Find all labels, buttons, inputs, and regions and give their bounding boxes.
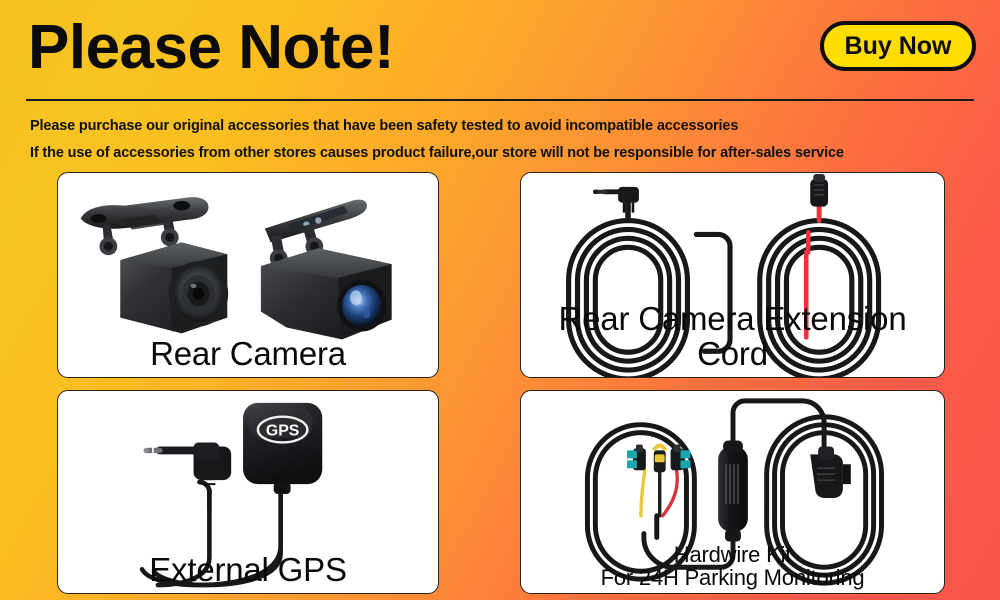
notice-line-1: Please purchase our original accessories… (30, 118, 738, 134)
promo-banner: Please Note! Buy Now Please purchase our… (0, 0, 1000, 600)
card-label-rear-camera-extension-cord: Rear Camera Extension Cord (521, 302, 944, 371)
card-label-rear-camera: Rear Camera (58, 337, 438, 371)
product-card-hardwire-kit[interactable]: Hardwire Kit For 24H Parking Monitoring (520, 390, 945, 594)
title-divider (26, 99, 974, 101)
product-card-rear-camera-extension-cord[interactable]: Rear Camera Extension Cord (520, 172, 945, 378)
buy-now-button[interactable]: Buy Now (820, 21, 976, 71)
gps-badge-text: GPS (266, 423, 299, 440)
header: Please Note! Buy Now (0, 0, 1000, 96)
product-grid: Rear Camera (57, 172, 945, 594)
card-label-hardwire-kit-line-2: For 24H Parking Monitoring (521, 567, 944, 590)
card-label-hardwire-kit: Hardwire Kit For 24H Parking Monitoring (521, 544, 944, 590)
page-title: Please Note! (28, 6, 394, 90)
notice-line-2: If the use of accessories from other sto… (30, 145, 844, 161)
card-label-external-gps: External GPS (58, 553, 438, 587)
product-card-rear-camera[interactable]: Rear Camera (57, 172, 439, 378)
product-card-external-gps[interactable]: GPS (57, 390, 439, 594)
card-label-hardwire-kit-line-1: Hardwire Kit (521, 544, 944, 567)
